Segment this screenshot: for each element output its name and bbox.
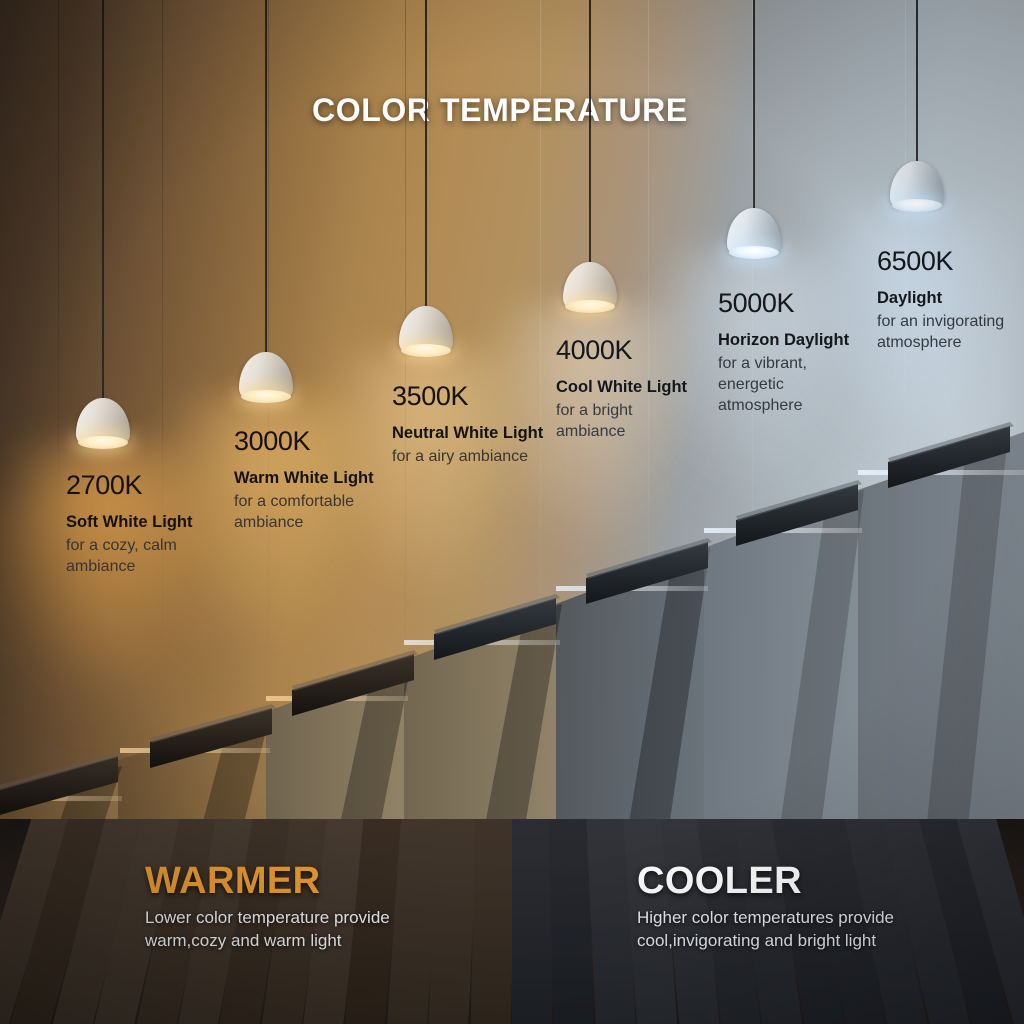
lamp-light-rim [78,436,128,449]
floor-plank [512,819,552,1024]
lamp-light-rim [892,199,942,212]
lamp-light-rim [241,390,291,403]
footer-cooler: COOLER Higher color temperatures provide… [637,862,894,953]
light-name: Soft White Light [66,512,216,533]
light-name: Neutral White Light [392,423,544,444]
lamp-light-rim [565,300,615,313]
temperature-group-5000k: 5000KHorizon Daylightfor a vibrant, ener… [718,290,858,416]
lamp-cord [102,0,104,398]
lamp-light-rim [729,246,779,259]
floor-plank [470,819,515,1024]
light-description: for an invigorating atmosphere [877,312,1017,354]
light-description: for a cozy, calm ambiance [66,536,216,578]
light-description: for a airy ambiance [392,447,544,468]
kelvin-value: 3000K [234,428,394,455]
temperature-group-2700k: 2700KSoft White Lightfor a cozy, calm am… [66,472,216,578]
light-description: for a comfortable ambiance [234,492,394,534]
warmer-line-2: warm,cozy and warm light [145,930,390,952]
footer-warmer: WARMER Lower color temperature provide w… [145,862,390,953]
kelvin-value: 2700K [66,472,216,499]
light-name: Daylight [877,288,1017,309]
kelvin-value: 3500K [392,383,544,410]
temperature-group-6500k: 6500KDaylightfor an invigorating atmosph… [877,248,1017,354]
cooler-heading: COOLER [637,862,894,900]
temperature-group-3000k: 3000KWarm White Lightfor a comfortable a… [234,428,394,534]
light-name: Cool White Light [556,377,696,398]
light-description: for a vibrant, energetic atmosphere [718,354,858,416]
page-title: COLOR TEMPERATURE [312,92,688,129]
light-description: for a bright ambiance [556,401,696,443]
lamp-cord [425,0,427,306]
temperature-group-4000k: 4000KCool White Lightfor a bright ambian… [556,337,696,443]
warmer-line-1: Lower color temperature provide [145,907,390,929]
light-name: Warm White Light [234,468,394,489]
lamp-cord [265,0,267,352]
lamp-cord [753,0,755,208]
lamp-light-rim [401,344,451,357]
lamp-cord [916,0,918,161]
cooler-line-1: Higher color temperatures provide [637,907,894,929]
kelvin-value: 4000K [556,337,696,364]
cooler-line-2: cool,invigorating and bright light [637,930,894,952]
light-name: Horizon Daylight [718,330,858,351]
lamp-cord [589,0,591,262]
warmer-heading: WARMER [145,862,390,900]
infographic-canvas: COLOR TEMPERATURE 2700KSoft White Lightf… [0,0,1024,1024]
kelvin-value: 5000K [718,290,858,317]
kelvin-value: 6500K [877,248,1017,275]
temperature-group-3500k: 3500KNeutral White Lightfor a airy ambia… [392,383,544,468]
